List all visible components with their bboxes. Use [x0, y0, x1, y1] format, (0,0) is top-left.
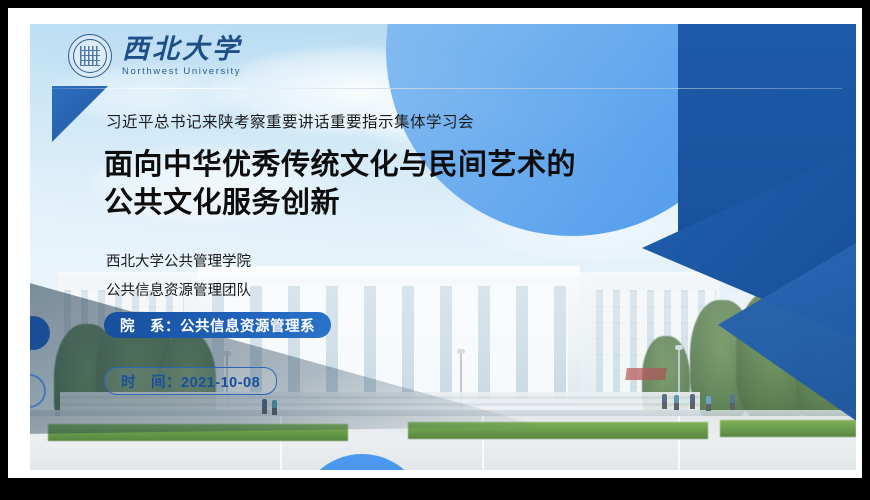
building-roofline [198, 266, 580, 276]
university-wordmark: 西北大学 Northwest University [122, 36, 242, 77]
campus-banner [625, 368, 667, 380]
pedestrian [674, 395, 679, 404]
date-badge: 时 间：2021-10-08 [104, 367, 277, 395]
affiliation-line-2: 公共信息资源管理团队 [106, 277, 251, 306]
affiliation-block: 西北大学公共管理学院 公共信息资源管理团队 [106, 248, 251, 306]
department-badge: 院 系：公共信息资源管理系 [104, 312, 331, 338]
affiliation-line-1: 西北大学公共管理学院 [106, 248, 251, 277]
university-logo: 西北大学 Northwest University [68, 34, 242, 78]
university-name-en: Northwest University [122, 67, 242, 77]
pedestrian [706, 396, 711, 405]
pedestrian [662, 394, 667, 403]
title-slide: 西北大学 Northwest University 习近平总书记来陕考察重要讲话… [30, 24, 856, 470]
grass-strip [720, 420, 856, 437]
event-eyebrow-text: 习近平总书记来陕考察重要讲话重要指示集体学习会 [106, 110, 474, 132]
pedestrian [730, 395, 735, 404]
presentation-screenshot: 西北大学 Northwest University 习近平总书记来陕考察重要讲话… [0, 0, 870, 500]
slide-header: 西北大学 Northwest University [30, 24, 856, 96]
university-seal-icon [68, 34, 112, 78]
header-divider [42, 88, 842, 89]
title-line-2: 公共文化服务创新 [104, 184, 576, 222]
slide-title: 面向中华优秀传统文化与民间艺术的 公共文化服务创新 [104, 146, 576, 223]
pedestrian [690, 394, 695, 403]
university-name-cn: 西北大学 [122, 36, 242, 63]
title-line-1: 面向中华优秀传统文化与民间艺术的 [104, 146, 576, 184]
slide-paper-frame: 西北大学 Northwest University 习近平总书记来陕考察重要讲话… [8, 8, 862, 478]
